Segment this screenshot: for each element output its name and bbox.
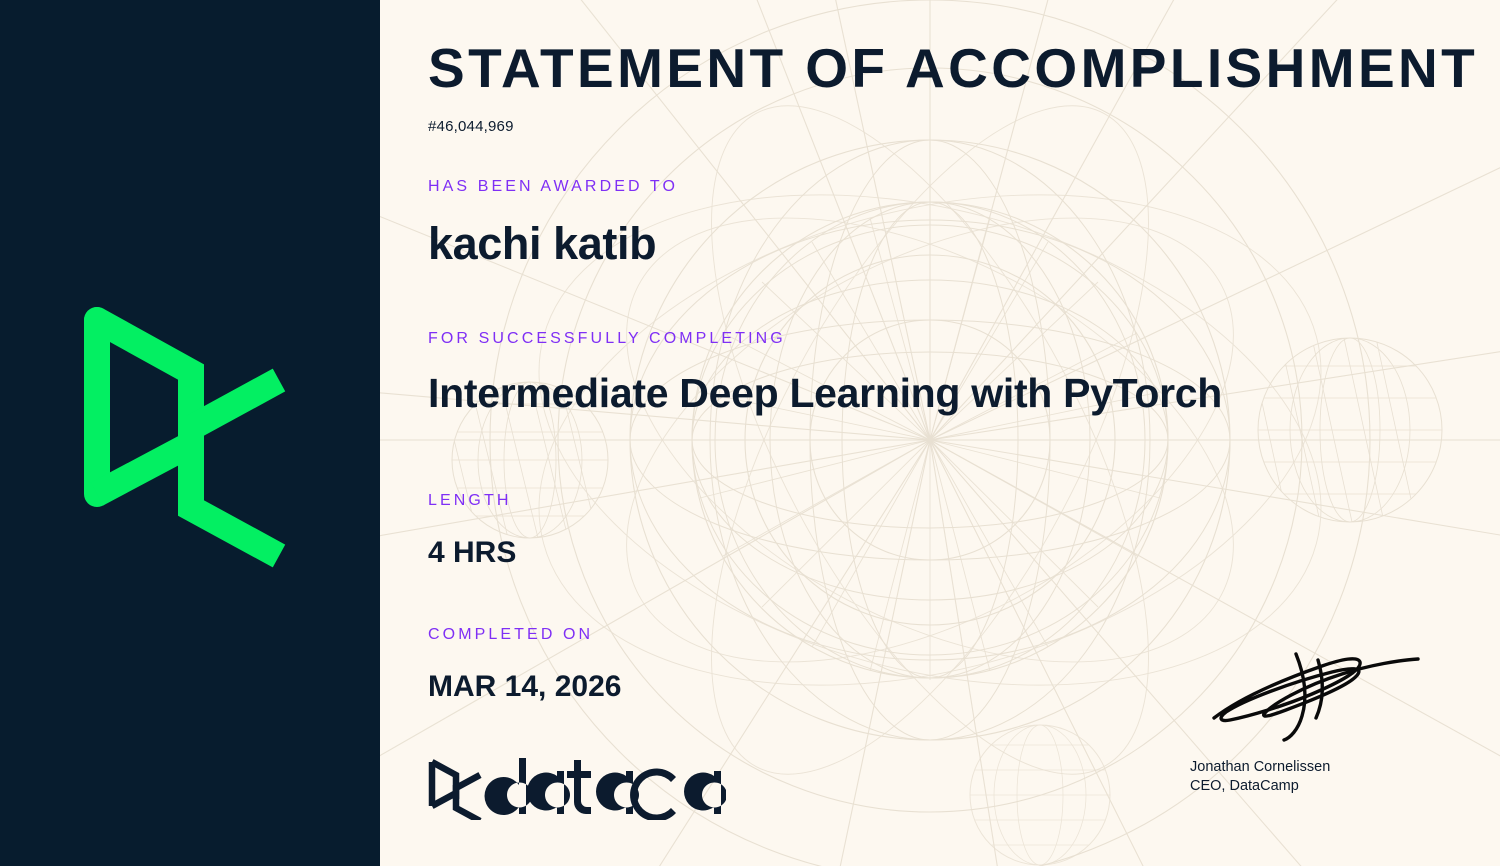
certificate-document: STATEMENT OF ACCOMPLISHMENT #46,044,969 … xyxy=(0,0,1500,866)
length-label: LENGTH xyxy=(428,492,512,510)
signature-block: Jonathan Cornelissen CEO, DataCamp xyxy=(1190,640,1450,795)
awarded-to-label: HAS BEEN AWARDED TO xyxy=(428,178,678,196)
signatory-role: CEO, DataCamp xyxy=(1190,777,1450,796)
completed-on-value: MAR 14, 2026 xyxy=(428,670,621,704)
recipient-name: kachi katib xyxy=(428,218,656,270)
length-value: 4 HRS xyxy=(428,536,516,570)
certificate-content: STATEMENT OF ACCOMPLISHMENT #46,044,969 … xyxy=(380,0,1500,866)
course-label: FOR SUCCESSFULLY COMPLETING xyxy=(428,330,786,348)
completed-on-label: COMPLETED ON xyxy=(428,626,593,644)
signatory-name: Jonathan Cornelissen xyxy=(1190,758,1450,777)
course-title: Intermediate Deep Learning with PyTorch xyxy=(428,370,1222,417)
certificate-number: #46,044,969 xyxy=(428,118,514,135)
datacamp-monogram-icon xyxy=(83,298,298,568)
datacamp-wordmark-logo xyxy=(426,752,726,820)
page-title: STATEMENT OF ACCOMPLISHMENT xyxy=(428,40,1478,98)
brand-panel xyxy=(0,0,380,866)
handwritten-signature-icon xyxy=(1200,640,1440,750)
certificate-body: STATEMENT OF ACCOMPLISHMENT #46,044,969 … xyxy=(380,0,1500,866)
